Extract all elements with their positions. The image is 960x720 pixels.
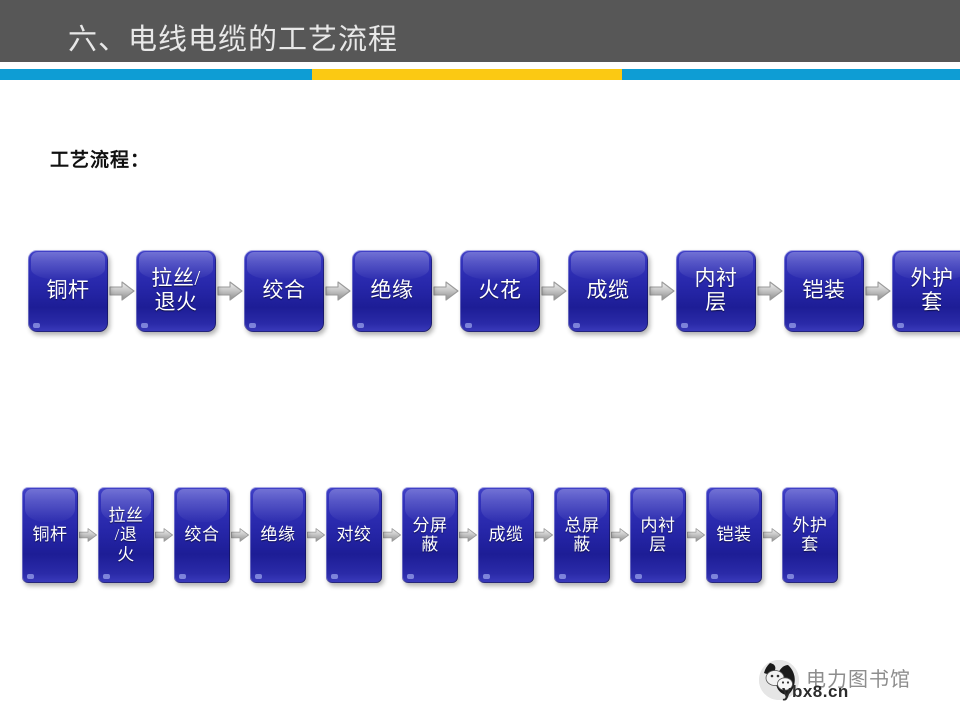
flow-node[interactable]: 铜杆: [28, 250, 108, 332]
flow-node-label: 铠装: [803, 279, 846, 303]
flow-node[interactable]: 绞合: [174, 487, 230, 583]
flow-node[interactable]: 铠装: [784, 250, 864, 332]
flow-node-label: 绝缘: [261, 525, 296, 544]
flow-node-label: 成缆: [489, 525, 524, 544]
flow-node-label: 成缆: [587, 279, 630, 303]
flow-node-label: 铜杆: [33, 525, 68, 544]
flow-node[interactable]: 铜杆: [22, 487, 78, 583]
flow-arrow-icon: [78, 526, 98, 544]
flowchart-row-2: 铜杆拉丝/退火绞合绝缘对绞分屏蔽成缆总屏蔽内衬层铠装外护套: [22, 487, 838, 583]
flow-arrow-icon: [382, 526, 402, 544]
accent-bar: [0, 69, 960, 80]
flow-arrow-icon: [306, 526, 326, 544]
flow-arrow-icon: [686, 526, 706, 544]
flow-node-label: 铠装: [717, 525, 752, 544]
flow-node-label: 绝缘: [371, 279, 414, 303]
flow-node[interactable]: 外护套: [892, 250, 960, 332]
flow-node[interactable]: 铠装: [706, 487, 762, 583]
header-divider: [0, 62, 960, 69]
flow-node-label: 拉丝/退火: [151, 267, 200, 314]
flow-arrow-icon: [534, 526, 554, 544]
flow-arrow-icon: [108, 279, 136, 303]
flow-arrow-icon: [432, 279, 460, 303]
flow-arrow-icon: [458, 526, 478, 544]
flow-node-label: 内衬层: [641, 516, 676, 554]
flow-arrow-icon: [610, 526, 630, 544]
flow-node-label: 外护套: [793, 516, 828, 554]
flow-node[interactable]: 拉丝/退火: [136, 250, 216, 332]
flow-arrow-icon: [864, 279, 892, 303]
flow-node-label: 火花: [479, 279, 522, 303]
accent-segment-middle: [312, 69, 622, 80]
flow-arrow-icon: [762, 526, 782, 544]
accent-segment-left: [0, 69, 312, 80]
flowchart-row-1: 铜杆拉丝/退火绞合绝缘火花成缆内衬层铠装外护套: [28, 250, 960, 332]
flow-node[interactable]: 内衬层: [676, 250, 756, 332]
flow-node-label: 对绞: [337, 525, 372, 544]
flow-node[interactable]: 总屏蔽: [554, 487, 610, 583]
flow-node-label: 拉丝/退火: [109, 506, 144, 563]
flow-arrow-icon: [154, 526, 174, 544]
flow-node-label: 铜杆: [47, 279, 90, 303]
flow-node-label: 总屏蔽: [565, 516, 600, 554]
flow-node[interactable]: 成缆: [568, 250, 648, 332]
flow-node-label: 内衬层: [695, 267, 738, 314]
accent-segment-right: [622, 69, 960, 80]
section-subheading: 工艺流程：: [50, 145, 150, 172]
flow-node-label: 分屏蔽: [413, 516, 448, 554]
flow-node-label: 绞合: [185, 525, 220, 544]
flow-arrow-icon: [230, 526, 250, 544]
watermark-url: ybx8.cn: [782, 682, 849, 702]
flow-node[interactable]: 外护套: [782, 487, 838, 583]
flow-node-label: 绞合: [263, 279, 306, 303]
flow-arrow-icon: [216, 279, 244, 303]
flow-node-label: 外护套: [911, 267, 954, 314]
flow-arrow-icon: [648, 279, 676, 303]
flow-node[interactable]: 绞合: [244, 250, 324, 332]
flow-node[interactable]: 火花: [460, 250, 540, 332]
flow-node[interactable]: 成缆: [478, 487, 534, 583]
flow-node[interactable]: 内衬层: [630, 487, 686, 583]
flow-node[interactable]: 拉丝/退火: [98, 487, 154, 583]
page-title: 六、电线电缆的工艺流程: [68, 16, 398, 58]
watermark: 电力图书馆 ybx8.cn: [752, 655, 952, 711]
flow-arrow-icon: [540, 279, 568, 303]
flow-arrow-icon: [756, 279, 784, 303]
slide: 六、电线电缆的工艺流程 工艺流程： 铜杆拉丝/退火绞合绝缘火花成缆内衬层铠装外护…: [0, 0, 960, 720]
flow-node[interactable]: 绝缘: [352, 250, 432, 332]
flow-arrow-icon: [324, 279, 352, 303]
flow-node[interactable]: 对绞: [326, 487, 382, 583]
flow-node[interactable]: 分屏蔽: [402, 487, 458, 583]
flow-node[interactable]: 绝缘: [250, 487, 306, 583]
